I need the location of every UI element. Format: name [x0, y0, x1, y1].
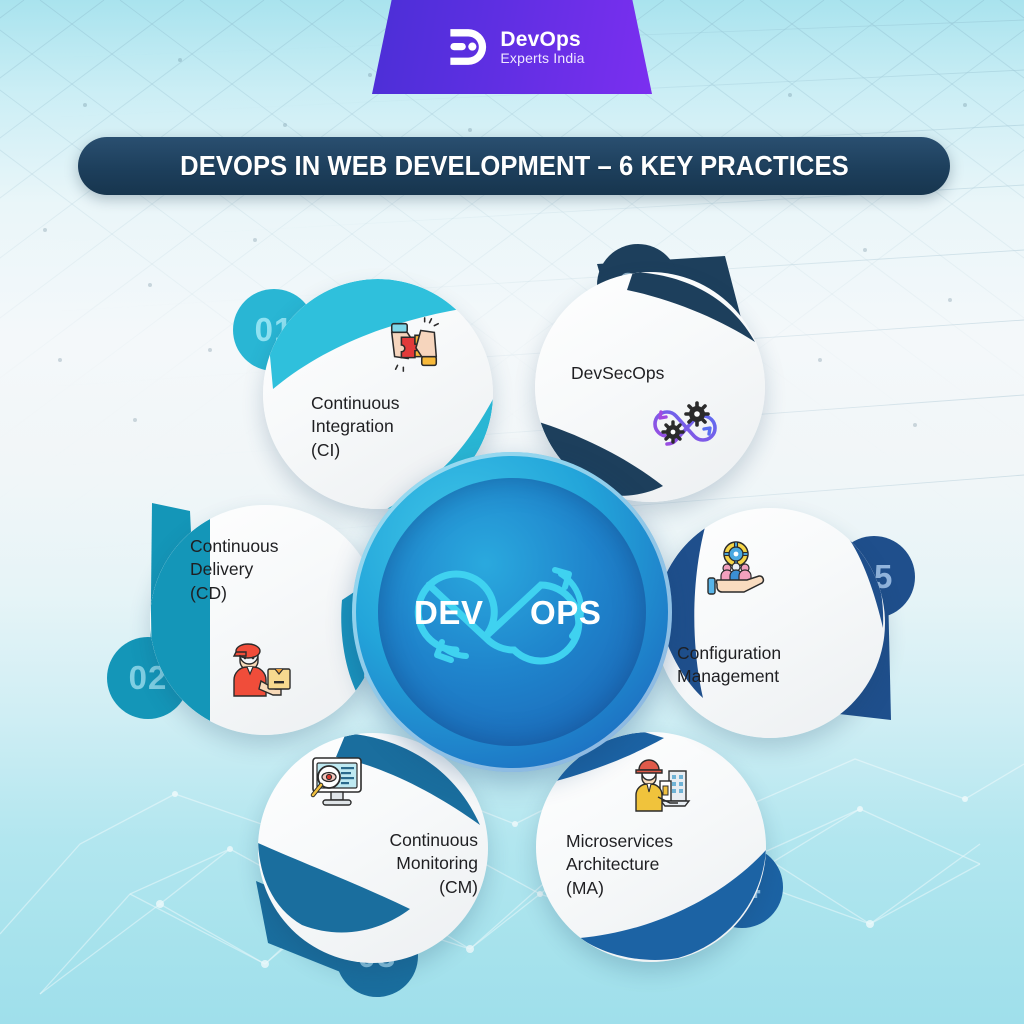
- brand-logo-banner: DevOps Experts India: [372, 0, 652, 94]
- card-title-line: (CM): [278, 876, 478, 899]
- center-hub: DEV OPS: [352, 452, 672, 772]
- devops-d-logo-icon: [439, 21, 491, 73]
- card-title-02: Continuous Delivery (CD): [190, 535, 360, 605]
- card-title-line: Continuous: [278, 829, 478, 852]
- brand-name: DevOps: [500, 29, 584, 50]
- card-title-line: Integration: [311, 415, 476, 438]
- card-title-03: Continuous Monitoring (CM): [278, 829, 478, 899]
- practice-card-05[interactable]: 05: [655, 508, 885, 738]
- practice-card-02[interactable]: 02 Continuous Delivery (CD): [150, 505, 380, 735]
- card-title-line: Management: [677, 665, 867, 688]
- hub-dev-label: DEV: [414, 594, 484, 632]
- card-title-line: Continuous: [311, 392, 476, 415]
- delivery-person-icon: [224, 641, 294, 701]
- card-title-line: Configuration: [677, 642, 867, 665]
- card-title-line: Continuous: [190, 535, 360, 558]
- card-title-04: Microservices Architecture (MA): [566, 830, 756, 900]
- puzzle-handshake-icon: [383, 314, 445, 376]
- card-title-line: Delivery: [190, 558, 360, 581]
- page-title-banner: DEVOPS IN WEB DEVELOPMENT – 6 KEY PRACTI…: [78, 137, 950, 195]
- brand-tagline: Experts India: [500, 51, 584, 65]
- hub-ops-label: OPS: [530, 594, 602, 632]
- card-title-line: (CD): [190, 582, 360, 605]
- page-title: DEVOPS IN WEB DEVELOPMENT – 6 KEY PRACTI…: [180, 150, 849, 182]
- gears-infinity-icon: [647, 390, 723, 454]
- card-title-line: Microservices: [566, 830, 756, 853]
- infographic-canvas: DevOps Experts India DEVOPS IN WEB DEVEL…: [0, 0, 1024, 1024]
- card-title-line: (MA): [566, 877, 756, 900]
- hand-gear-people-icon: [703, 538, 771, 598]
- card-title-05: Configuration Management: [677, 642, 867, 689]
- card-title-line: Architecture: [566, 853, 756, 876]
- card-title-line: Monitoring: [278, 852, 478, 875]
- card-title-06: DevSecOps: [571, 362, 751, 385]
- infinity-loop-icon: [352, 452, 672, 772]
- card-title-line: DevSecOps: [571, 362, 751, 385]
